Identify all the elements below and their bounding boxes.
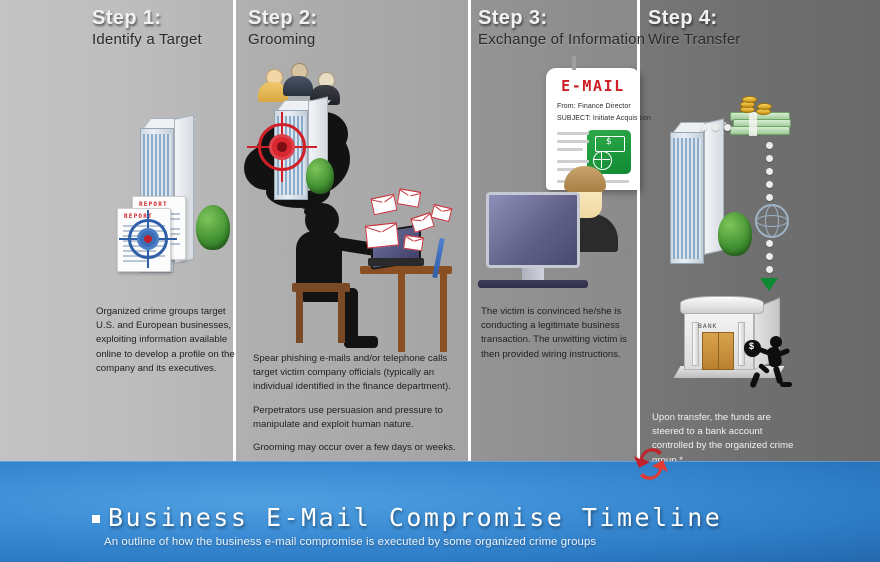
crosshair-target-icon [128,219,168,259]
step-2-paragraph: Grooming may occur over a few days or we… [253,441,461,455]
step-2-heading: Step 2: Grooming [248,8,317,49]
desk-leg [398,274,405,352]
banner-title: Business E-Mail Compromise Timeline [108,503,722,532]
envelope-icon [365,222,399,248]
bottom-banner: Business E-Mail Compromise Timeline An o… [0,461,880,562]
step-1-heading: Step 1: Identify a Target [92,8,202,49]
step-4-name: Wire Transfer [648,32,741,49]
step-1-body: Organized crime groups target U.S. and E… [96,305,242,385]
thief-with-money-bag-icon [744,336,792,388]
executive-avatar-icon [283,63,313,97]
transfer-path-dot [766,240,773,247]
step-2-name: Grooming [248,32,317,49]
transfer-path-dot [766,155,773,162]
email-header: E-MAIL [546,77,640,95]
infographic-canvas: Step 1: Identify a Target REPORT REPORT … [0,0,880,562]
shrub-icon [306,158,334,194]
step-3-heading: Step 3: Exchange of Information [478,8,645,49]
step-3-paragraph: The victim is convinced he/she is conduc… [481,305,637,362]
transfer-path-dot [766,194,773,201]
envelope-icon [403,235,424,252]
step-4-label: Step 4: [648,8,741,28]
transfer-path-dot [766,253,773,260]
step-1-label: Step 1: [92,8,202,28]
transfer-path-dot [712,124,719,131]
step-2-paragraph: Spear phishing e-mails and/or telephone … [253,352,461,395]
money-stack-icon [730,112,788,136]
banner-title-row: Business E-Mail Compromise Timeline [92,503,722,532]
transfer-path-dot [766,142,773,149]
email-tail [572,56,576,70]
step-1-name: Identify a Target [92,32,202,49]
computer-monitor-icon [486,192,580,268]
step-2-label: Step 2: [248,8,317,28]
transfer-path-dot [766,266,773,273]
bank-label: BANK [698,322,717,330]
desk-leg [440,274,447,352]
transfer-path-dot [724,124,731,131]
step-4-paragraph: Upon transfer, the funds are steered to … [652,411,802,468]
step-2-body: Spear phishing e-mails and/or telephone … [253,352,461,464]
step-3-name: Exchange of Information [478,32,645,49]
step-1-paragraph: Organized crime groups target U.S. and E… [96,305,242,376]
globe-icon [755,204,789,238]
banner-subtitle: An outline of how the business e-mail co… [104,536,596,548]
step-3-body: The victim is convinced he/she is conduc… [481,305,637,371]
transfer-path-dot [766,168,773,175]
shrub-icon [718,212,752,256]
step-3-label: Step 3: [478,8,645,28]
step-4-heading: Step 4: Wire Transfer [648,8,741,49]
report-label: REPORT [139,201,168,208]
chair-leg [296,291,303,343]
transfer-path-dot [700,124,707,131]
envelope-icon [370,194,397,216]
chair-leg [338,291,345,343]
step-2-paragraph: Perpetrators use persuasion and pressure… [253,404,461,432]
crosshair-target-icon [258,123,306,171]
email-from-line: From: Finance Director [557,103,631,110]
square-bullet-icon [92,515,100,523]
transfer-path-dot [766,181,773,188]
shrub-icon [196,205,230,250]
laptop-base [368,258,424,266]
gold-coins-icon [742,96,757,103]
envelope-icon [397,188,421,208]
transfer-arrow-icon [760,278,778,291]
gold-coins-icon [757,103,772,110]
hacker-foot [344,336,378,348]
cycle-arrows-logo-icon [632,442,670,486]
